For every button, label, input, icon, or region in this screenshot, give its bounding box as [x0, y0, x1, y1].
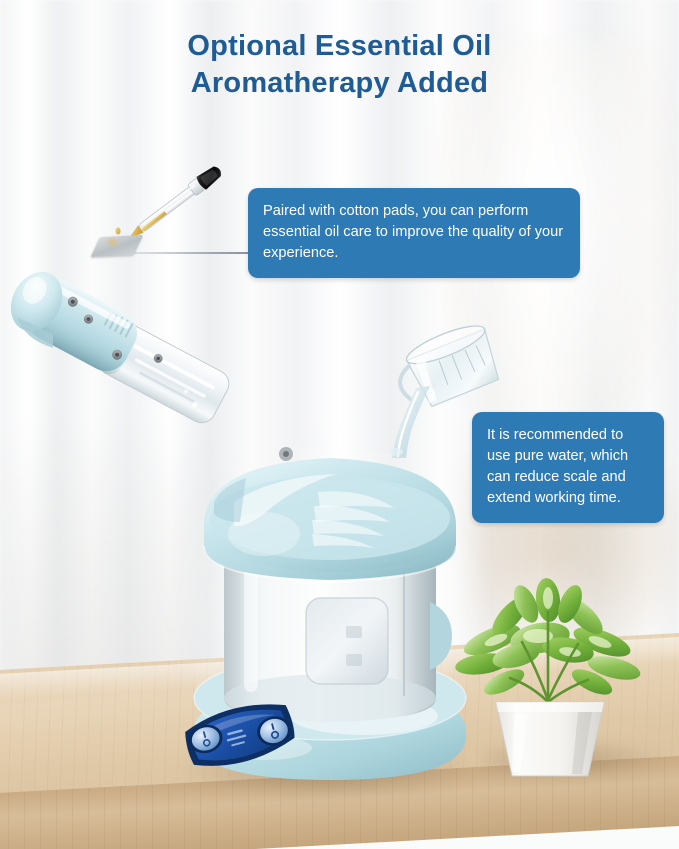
pure-water-callout: It is recommended to use pure water, whi…: [472, 412, 664, 523]
page-title-line-2: Aromatherapy Added: [0, 65, 679, 102]
cotton-pad-oil-stain: [106, 238, 119, 248]
plant-leaves: [454, 577, 643, 702]
pure-water-callout-text: It is recommended to use pure water, whi…: [487, 427, 628, 506]
essential-oil-dropper-group: [96, 158, 236, 268]
product-infographic-scene: Optional Essential Oil Aromatherapy Adde…: [0, 0, 679, 849]
pot-rim: [496, 702, 604, 712]
switch-i-symbol: [272, 724, 273, 729]
potted-plant: [452, 582, 652, 782]
oil-droplet: [115, 227, 120, 234]
tank-side-grip: [430, 602, 452, 670]
page-title-line-1: Optional Essential Oil: [0, 28, 679, 65]
switch-i-symbol: [204, 732, 205, 737]
essential-oil-callout-text: Paired with cotton pads, you can perform…: [263, 203, 563, 261]
page-title: Optional Essential Oil Aromatherapy Adde…: [0, 28, 679, 102]
steamer-main-body: [168, 430, 498, 790]
water-level-window: [306, 598, 388, 684]
